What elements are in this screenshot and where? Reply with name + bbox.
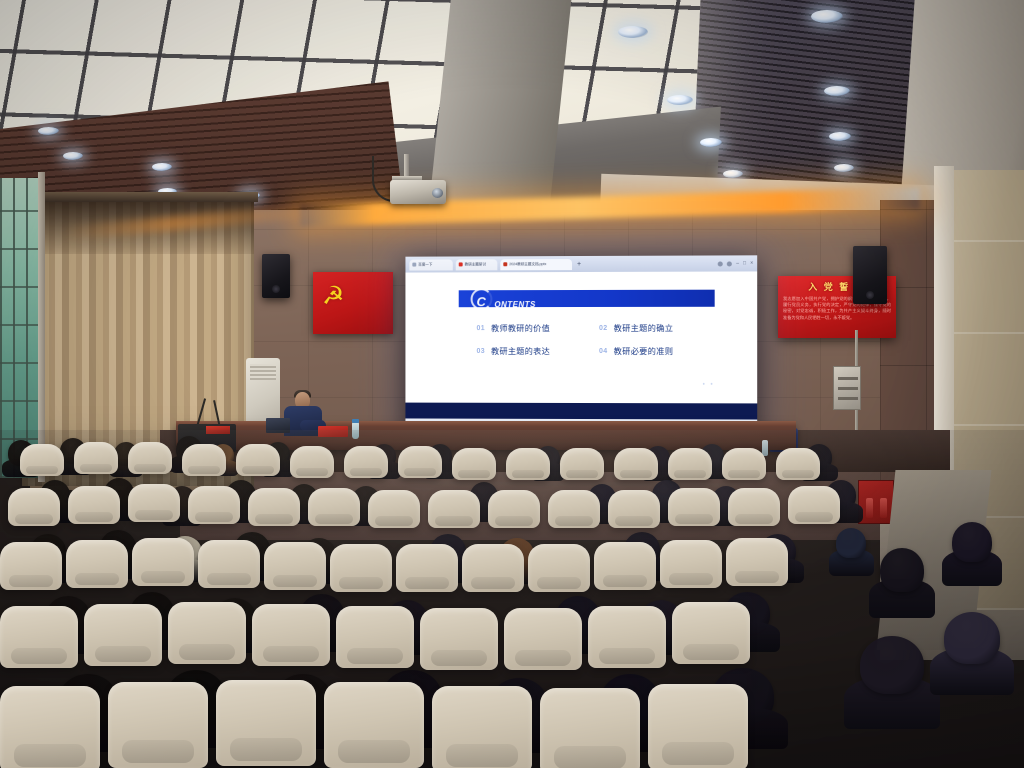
tab-favicon	[459, 262, 463, 266]
browser-window-controls: – □ ×	[718, 260, 753, 266]
auditorium-seat	[330, 544, 392, 592]
auditorium-seat	[462, 544, 524, 592]
auditorium-seat	[776, 448, 820, 480]
auditorium-seat	[588, 606, 666, 668]
projector-lens	[432, 188, 443, 198]
auditorium-seat	[614, 448, 658, 480]
auditorium-seat	[722, 448, 766, 480]
auditorium-seat	[236, 444, 280, 476]
auditorium-seat	[726, 538, 788, 586]
auditorium-seat	[560, 448, 604, 480]
browser-tab-title: 教研主题研讨	[465, 262, 486, 267]
auditorium-seat	[540, 688, 640, 768]
auditorium-seat	[668, 488, 720, 526]
auditorium-seat	[0, 542, 62, 590]
seated-attendee	[880, 548, 924, 592]
browser-tab[interactable]: 教研主题研讨	[456, 259, 498, 270]
toc-item: 04 教研必要的准则	[599, 345, 717, 357]
toc-number: 01	[477, 325, 486, 332]
water-bottle-cap	[352, 419, 359, 423]
toc-label: 教研主题的表达	[491, 345, 550, 357]
close-icon[interactable]: ×	[750, 260, 753, 266]
auditorium-seat	[668, 448, 712, 480]
new-tab-button[interactable]: +	[577, 260, 581, 267]
slide-table-of-contents: 01 教师教研的价值 02 教研主题的确立 03 教研主题的表达 04 教研必要…	[477, 322, 717, 357]
toc-label: 教研主题的确立	[614, 322, 674, 334]
auditorium-seat	[252, 604, 330, 666]
auditorium-seat	[132, 538, 194, 586]
auditorium-seat	[324, 682, 424, 768]
auditorium-seat	[660, 540, 722, 588]
auditorium-seat	[20, 444, 64, 476]
browser-page-area: C ONTENTS 01 教师教研的价值 02 教研主题的确立 03 教研主题的…	[405, 271, 757, 403]
extensions-icon[interactable]	[718, 261, 723, 266]
auditorium-seat	[528, 544, 590, 592]
seated-attendee	[860, 636, 924, 694]
speaker-cone-icon	[866, 291, 874, 299]
toc-label: 教研必要的准则	[614, 345, 674, 357]
auditorium-seat	[264, 542, 326, 590]
air-conditioner-vent	[250, 364, 276, 380]
auditorium-seat	[188, 486, 240, 524]
auditorium-seat	[672, 602, 750, 664]
auditorium-seat	[128, 484, 180, 522]
recessed-downlight-icon	[63, 152, 83, 160]
auditorium-seat	[728, 488, 780, 526]
communist-party-flag: ☭	[313, 272, 393, 334]
auditorium-seat	[248, 488, 300, 526]
projection-screen: 百度一下 教研主题研讨 2024教研主题文档.pptx + – □ ×	[405, 255, 757, 438]
auditorium-seat	[648, 684, 748, 768]
browser-tab-active[interactable]: 2024教研主题文档.pptx	[500, 259, 572, 270]
browser-tab[interactable]: 百度一下	[409, 259, 452, 270]
toc-label: 教师教研的价值	[491, 322, 550, 334]
presentation-slide: C ONTENTS 01 教师教研的价值 02 教研主题的确立 03 教研主题的…	[433, 278, 729, 397]
browser-tab-title: 2024教研主题文档.pptx	[509, 262, 546, 267]
auditorium-seat	[420, 608, 498, 670]
auditorium-seat	[0, 686, 100, 768]
profile-avatar[interactable]	[727, 261, 732, 266]
recessed-downlight-icon	[723, 170, 743, 178]
standing-attendee	[836, 528, 866, 558]
auditorium-seat	[344, 446, 388, 478]
auditorium-seat	[788, 486, 840, 524]
slide-header-letter: C	[477, 294, 487, 309]
seated-attendee	[944, 612, 1000, 664]
curtain-rail	[18, 192, 258, 202]
recessed-downlight-icon	[667, 95, 693, 105]
auditorium-seat	[84, 604, 162, 666]
auditorium-seat	[66, 540, 128, 588]
auditorium-seat	[182, 444, 226, 476]
browser-tab-title: 百度一下	[418, 262, 432, 267]
toc-number: 04	[599, 348, 608, 355]
auditorium-seat	[608, 490, 660, 528]
auditorium-seat	[432, 686, 532, 768]
slide-corner-mark: • •	[703, 382, 715, 388]
auditorium-seat	[396, 544, 458, 592]
wall-speaker-right	[853, 246, 887, 304]
control-strip	[838, 397, 858, 400]
speaker-cone-icon	[272, 285, 280, 293]
hammer-sickle-icon: ☭	[322, 284, 350, 308]
auditorium-seat	[368, 490, 420, 528]
auditorium-seat	[168, 602, 246, 664]
auditorium-seat	[548, 490, 600, 528]
seated-attendee	[952, 522, 992, 562]
auditorium-seat	[216, 680, 316, 766]
auditorium-seat	[108, 682, 208, 768]
auditorium-seat	[290, 446, 334, 478]
recessed-downlight-icon	[829, 132, 851, 141]
auditorium-seat	[198, 540, 260, 588]
wall-speaker-left	[262, 254, 290, 298]
toc-number: 03	[477, 347, 486, 354]
wall-control-panel[interactable]	[833, 366, 861, 410]
recessed-downlight-icon	[811, 10, 843, 23]
slide-header-word: ONTENTS	[494, 300, 535, 309]
toc-item: 03 教研主题的表达	[477, 345, 593, 357]
maximize-icon[interactable]: □	[743, 260, 746, 266]
auditorium-seat	[506, 448, 550, 480]
auditorium-seat	[0, 606, 78, 668]
auditorium-seat	[8, 488, 60, 526]
recessed-downlight-icon	[618, 26, 648, 38]
audience-area	[0, 430, 1024, 768]
auditorium-seat	[68, 486, 120, 524]
tab-favicon	[412, 263, 416, 267]
auditorium-seat	[594, 542, 656, 590]
toc-item: 02 教研主题的确立	[599, 322, 717, 334]
control-strip	[838, 377, 858, 380]
tab-favicon	[503, 262, 507, 266]
auditorium-seat	[128, 442, 172, 474]
auditorium-seat	[488, 490, 540, 528]
auditorium-seat	[336, 606, 414, 668]
recessed-downlight-icon	[700, 138, 722, 147]
recessed-downlight-icon	[824, 86, 850, 96]
recessed-downlight-icon	[834, 164, 854, 172]
auditorium-seat	[428, 490, 480, 528]
browser-title-bar: 百度一下 教研主题研讨 2024教研主题文档.pptx + – □ ×	[405, 255, 757, 272]
auditorium-seat	[398, 446, 442, 478]
auditorium-seat	[308, 488, 360, 526]
recessed-downlight-icon	[152, 163, 172, 171]
toc-number: 02	[599, 324, 608, 331]
auditorium-scene: ☭ 入 党 誓 词 我志愿加入中国共产党，拥护党的纲领，遵守党的章程，履行党员义…	[0, 0, 1024, 768]
recessed-downlight-icon	[38, 127, 59, 135]
toc-item: 01 教师教研的价值	[477, 322, 593, 334]
auditorium-seat	[74, 442, 118, 474]
auditorium-seat	[452, 448, 496, 480]
auditorium-seat	[504, 608, 582, 670]
control-strip	[838, 387, 858, 390]
minimize-icon[interactable]: –	[736, 260, 739, 266]
